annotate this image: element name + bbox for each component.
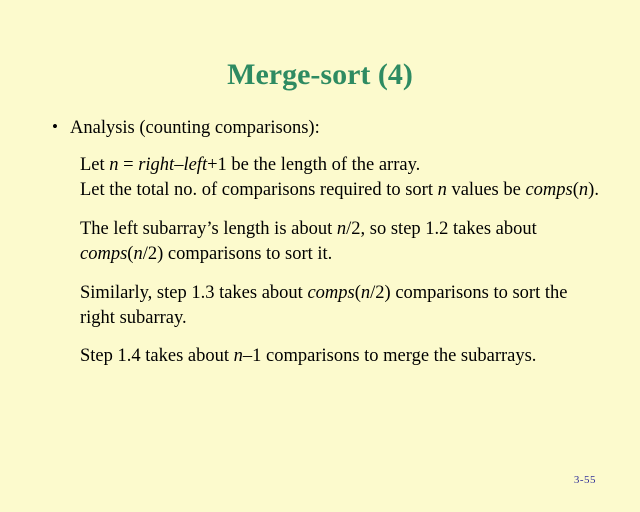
slide-number: 3-55 xyxy=(574,474,596,486)
slide-body: • Analysis (counting comparisons): Let n… xyxy=(44,116,600,382)
text-run: Step 1.4 takes about xyxy=(80,346,234,366)
text-run: n xyxy=(109,155,118,175)
paragraph-merge-step: Step 1.4 takes about n–1 comparisons to … xyxy=(80,344,600,369)
text-run: n xyxy=(438,180,447,200)
text-run: comps xyxy=(307,283,354,303)
text-run: n xyxy=(337,219,346,239)
text-run: n xyxy=(579,180,588,200)
text-run: /2, so step 1.2 takes about xyxy=(346,219,537,239)
text-run: values be xyxy=(447,180,526,200)
bullet-item-label: Analysis (counting comparisons): xyxy=(70,116,600,141)
text-run: Let xyxy=(80,155,109,175)
text-run: right xyxy=(138,155,174,175)
text-run: left xyxy=(183,155,207,175)
text-run: Similarly, step 1.3 takes about xyxy=(80,283,307,303)
text-run: Let the total no. of comparisons require… xyxy=(80,180,438,200)
text-run: –1 comparisons to merge the subarrays. xyxy=(243,346,537,366)
text-run: = xyxy=(119,155,139,175)
text-run: ). xyxy=(588,180,599,200)
text-run: n xyxy=(133,244,142,264)
paragraph-right-subarray: Similarly, step 1.3 takes about comps(n/… xyxy=(80,281,600,331)
slide-canvas: Merge-sort (4) • Analysis (counting comp… xyxy=(0,0,640,512)
text-run: n xyxy=(234,346,243,366)
page-title: Merge-sort (4) xyxy=(0,58,640,91)
text-run: /2) comparisons to sort it. xyxy=(143,244,333,264)
bullet-point-icon: • xyxy=(44,116,70,139)
text-run: The left subarray’s length is about xyxy=(80,219,337,239)
bullet-item-analysis: • Analysis (counting comparisons): xyxy=(44,116,600,141)
text-run: comps xyxy=(525,180,572,200)
text-run: +1 be the length of the array. xyxy=(207,155,420,175)
text-run: n xyxy=(361,283,370,303)
paragraph-definition: Let n = right–left+1 be the length of th… xyxy=(80,153,600,203)
paragraph-left-subarray: The left subarray’s length is about n/2,… xyxy=(80,217,600,267)
text-run: comps xyxy=(80,244,127,264)
